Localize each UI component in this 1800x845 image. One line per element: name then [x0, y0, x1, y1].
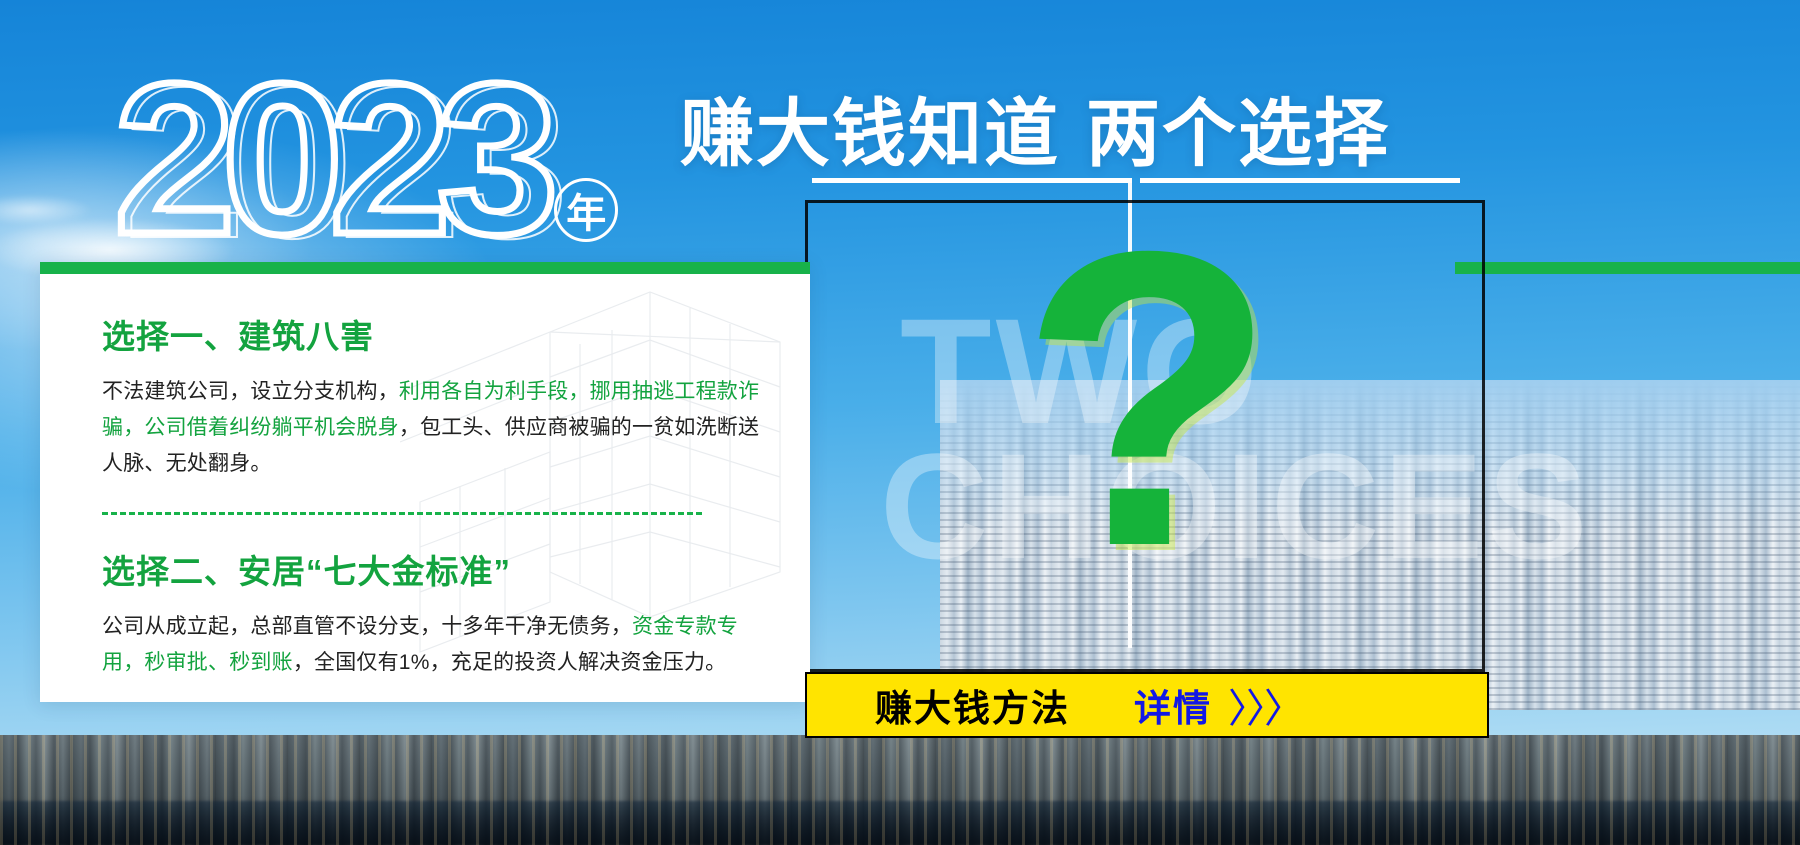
- green-accent-bar-right: [1455, 262, 1800, 274]
- section-2-body: 公司从成立起，总部直管不设分支，十多年干净无债务，资金专款专用，秒审批、秒到账，…: [102, 609, 770, 681]
- question-mark-icon: ?: [1020, 190, 1277, 610]
- section-2-text-a: 公司从成立起，总部直管不设分支，十多年干净无债务，: [102, 615, 632, 638]
- section-2-text-c: ，全国仅有1%，充足的投资人解决资金压力。: [293, 651, 727, 674]
- cta-label-left: 赚大钱方法: [875, 678, 1070, 732]
- title-part-2: 两个选择: [1086, 92, 1390, 175]
- year-suffix: 年: [554, 178, 618, 242]
- bottom-photo-strip: [0, 735, 1800, 845]
- section-2-heading: 选择二、安居“七大金标准”: [102, 545, 770, 593]
- year-number: 2023: [114, 62, 545, 256]
- section-1-text-a: 不法建筑公司，设立分支机构，: [102, 380, 399, 403]
- section-divider: [102, 512, 702, 515]
- cta-label-right[interactable]: 详情: [1134, 678, 1212, 732]
- title-part-1: 赚大钱知道: [680, 92, 1060, 175]
- section-1-heading: 选择一、建筑八害: [102, 310, 770, 358]
- water-reflection: [0, 801, 1800, 845]
- poster-root: 2023 2023 年 赚大钱知道两个选择 TWO CHOICES ?: [0, 0, 1800, 845]
- year-badge: 2023 2023 年: [118, 62, 618, 256]
- card-content: 选择一、建筑八害 不法建筑公司，设立分支机构，利用各自为利手段，挪用抽逃工程款诈…: [40, 262, 810, 682]
- section-1-body: 不法建筑公司，设立分支机构，利用各自为利手段，挪用抽逃工程款诈骗，公司借着纠纷躺…: [102, 374, 770, 482]
- chevron-right-icon: 〉〉〉: [1228, 676, 1302, 734]
- cta-banner[interactable]: 赚大钱方法 详情 〉〉〉: [805, 672, 1489, 738]
- content-card: 选择一、建筑八害 不法建筑公司，设立分支机构，利用各自为利手段，挪用抽逃工程款诈…: [40, 262, 810, 702]
